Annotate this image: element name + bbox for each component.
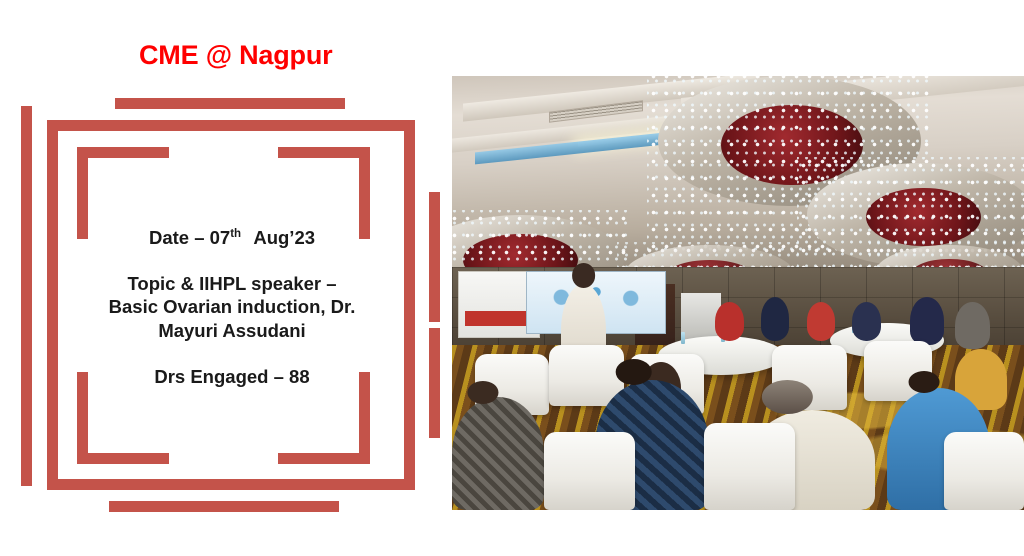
water-bottle bbox=[681, 332, 685, 344]
decorative-frame: Date – 07th Aug’23 Topic & IIHPL speaker… bbox=[0, 76, 440, 516]
frame-accent-bar-right-lower bbox=[429, 328, 440, 438]
event-topic-line: Topic & IIHPL speaker – Basic Ovarian in… bbox=[62, 272, 402, 343]
event-details-block: Date – 07th Aug’23 Topic & IIHPL speaker… bbox=[62, 226, 402, 388]
event-date-month-year: Aug’23 bbox=[253, 227, 315, 248]
event-photo-scene bbox=[452, 76, 1024, 510]
event-speaker-name: Mayuri Assudani bbox=[158, 320, 305, 341]
event-attendance-line: Drs Engaged – 88 bbox=[62, 365, 402, 389]
event-date-line: Date – 07th Aug’23 bbox=[62, 226, 402, 250]
page-title: CME @ Nagpur bbox=[139, 40, 332, 71]
attendee bbox=[852, 302, 881, 341]
frame-accent-bar-left bbox=[21, 106, 32, 486]
attendee bbox=[807, 302, 836, 341]
event-topic-heading: Topic & IIHPL speaker – bbox=[127, 273, 336, 294]
event-topic-detail: Basic Ovarian induction, Dr. bbox=[109, 296, 356, 317]
event-date-label: Date – 07 bbox=[149, 227, 230, 248]
attendee bbox=[955, 302, 989, 350]
event-photo bbox=[452, 76, 1024, 510]
banquet-chair bbox=[544, 432, 636, 510]
event-attendance-count: Drs Engaged – 88 bbox=[154, 366, 309, 387]
banquet-chair bbox=[704, 423, 796, 510]
banquet-chair bbox=[944, 432, 1024, 510]
attendee bbox=[761, 297, 790, 340]
attendee bbox=[910, 297, 944, 345]
attendee-foreground bbox=[452, 397, 544, 510]
event-date-ordinal-suffix: th bbox=[230, 228, 241, 240]
frame-accent-bar-top bbox=[115, 98, 345, 109]
frame-accent-bar-bottom bbox=[109, 501, 339, 512]
frame-accent-bar-right-upper bbox=[429, 192, 440, 322]
attendee bbox=[715, 302, 744, 341]
